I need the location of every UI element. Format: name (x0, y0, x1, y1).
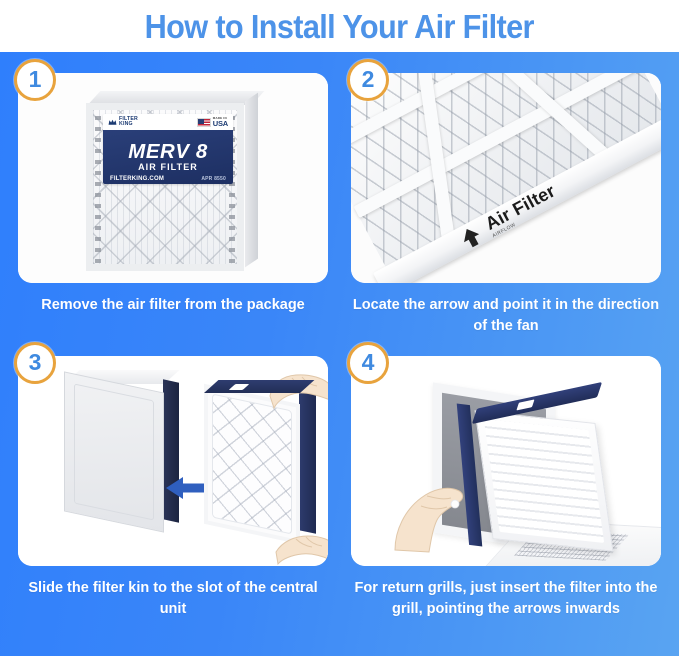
step-badge-1: 1 (14, 59, 56, 101)
step-caption-2: Locate the arrow and point it in the dir… (351, 295, 661, 337)
infographic-root: How to Install Your Air Filter (0, 0, 679, 656)
step-2-illustration: Air Filter AIRFLOW (351, 73, 661, 283)
filter-side-depth (245, 93, 258, 268)
step-number-2: 2 (362, 68, 375, 91)
air-filter-product: FILTER KING MADE IN USA (86, 91, 258, 271)
air-filter-product-scene: FILTER KING MADE IN USA (18, 73, 328, 283)
brand-line-2: KING (119, 121, 133, 127)
label-footer-row: FILTERKING.COM APR 8550 (103, 176, 233, 182)
step-badge-2: 2 (347, 59, 389, 101)
filter-corner-scene: Air Filter AIRFLOW (351, 73, 661, 283)
hand-upper-icon (262, 370, 328, 418)
step-number-3: 3 (29, 351, 42, 374)
filter-king-logo: FILTER KING (108, 117, 138, 128)
filter-arrow-tag (516, 399, 534, 410)
filter-front-face: FILTER KING MADE IN USA (86, 103, 244, 271)
step-card-2: Air Filter AIRFLOW 2 (351, 73, 661, 283)
central-unit-housing (64, 370, 182, 530)
step-card-1: FILTER KING MADE IN USA (18, 73, 328, 283)
slide-filter-scene (18, 356, 328, 566)
step-badge-3: 3 (14, 342, 56, 384)
filter-top-edge (204, 380, 314, 393)
label-header-row: FILTER KING MADE IN USA (103, 114, 233, 130)
usa-label: USA (213, 120, 228, 128)
filter-left-tabs (95, 116, 101, 270)
step-card-3: 3 (18, 356, 328, 566)
grill-louvers (484, 419, 604, 543)
step-1-illustration: FILTER KING MADE IN USA (18, 73, 328, 283)
step-number-1: 1 (29, 68, 42, 91)
product-type-label: AIR FILTER (138, 162, 198, 173)
title-band: How to Install Your Air Filter (0, 0, 679, 52)
step-badge-4: 4 (347, 342, 389, 384)
crown-icon (108, 118, 117, 127)
return-grill-louver-panel (474, 410, 613, 551)
filter-frame-body: Air Filter AIRFLOW (351, 73, 661, 283)
step-3-illustration (18, 356, 328, 566)
step-card-4: 4 (351, 356, 661, 566)
page-title: How to Install Your Air Filter (145, 10, 534, 43)
step-caption-4: For return grills, just insert the filte… (351, 578, 661, 620)
brand-text: FILTER KING (119, 117, 138, 128)
made-in-usa-text: MADE IN USA (213, 117, 228, 128)
filter-product-label: FILTER KING MADE IN USA (103, 114, 233, 184)
label-main-panel: MERV 8 AIR FILTER FILTERKING.COM APR 855… (103, 130, 233, 184)
unit-front-panel (64, 371, 164, 532)
step-caption-3: Slide the filter kin to the slot of the … (18, 578, 328, 620)
step-4-illustration (351, 356, 661, 566)
step-caption-1: Remove the air filter from the package (18, 295, 328, 316)
website-url: FILTERKING.COM (110, 176, 164, 182)
hand-lower-icon (274, 532, 328, 566)
product-code: APR 8550 (201, 176, 226, 182)
step-number-4: 4 (362, 351, 375, 374)
merv-rating: MERV 8 (128, 142, 208, 162)
usa-flag-icon (197, 118, 211, 127)
made-in-usa-badge: MADE IN USA (197, 117, 228, 128)
return-grill-scene (351, 356, 661, 566)
